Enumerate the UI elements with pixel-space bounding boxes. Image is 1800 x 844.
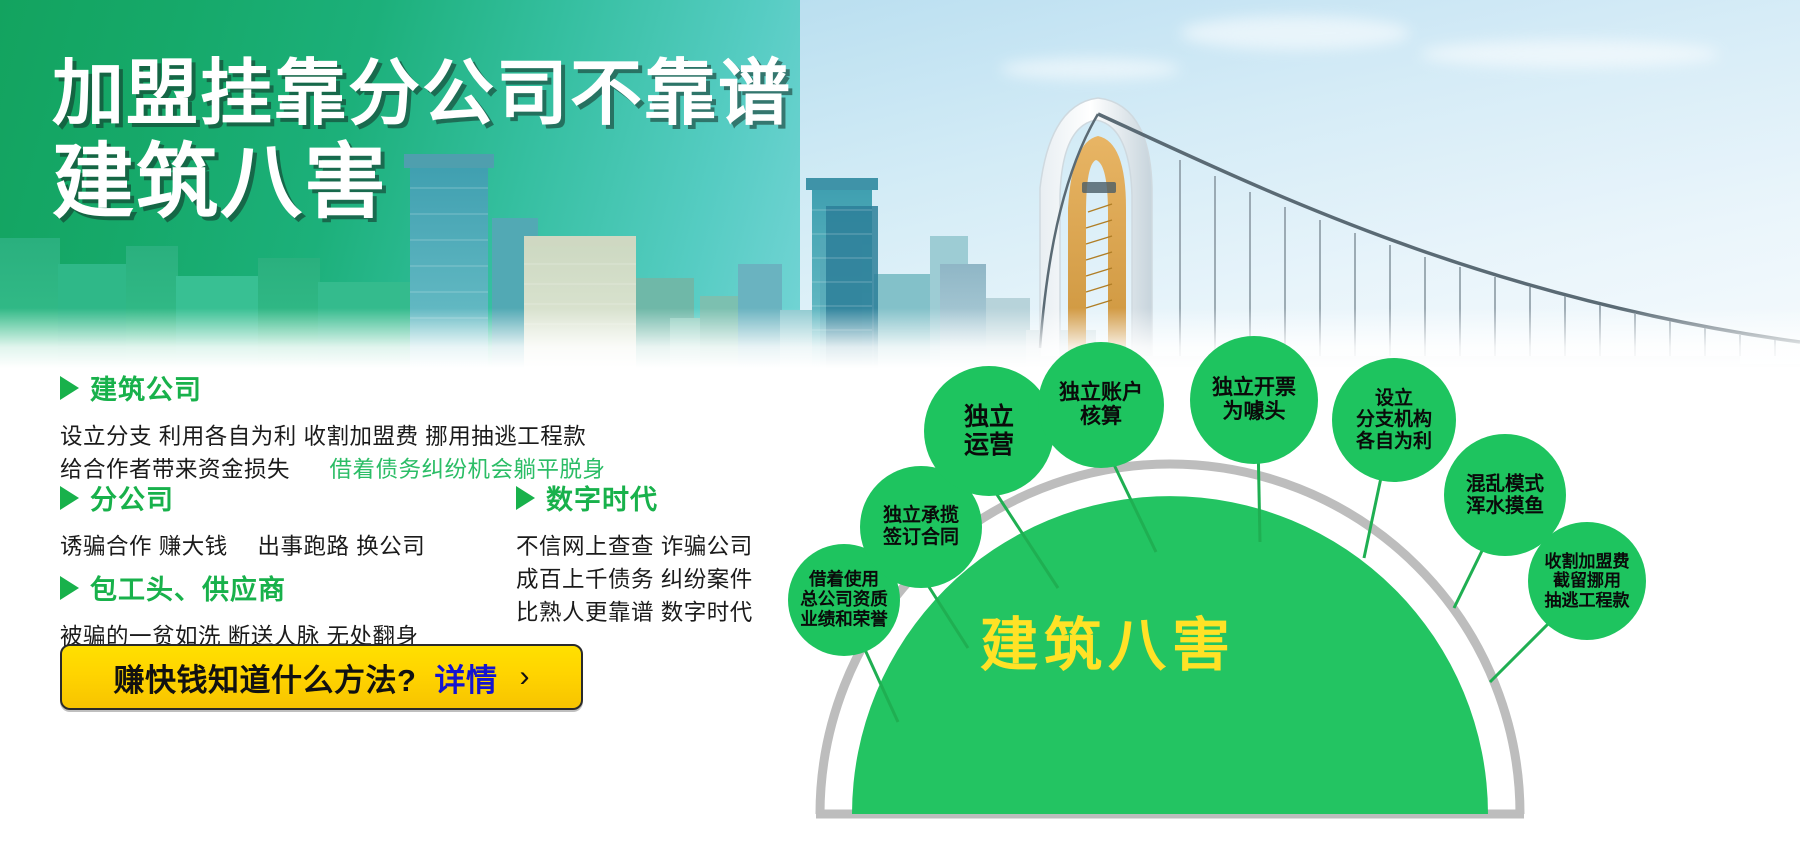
bubble-line: 抽逃工程款 xyxy=(1541,591,1634,610)
cta-button[interactable]: 赚快钱知道什么方法? 详情 › xyxy=(60,644,583,710)
left-content-column: 建筑公司 设立分支 利用各自为利 收割加盟费 挪用抽逃工程款 给合作者带来资金损… xyxy=(0,368,790,844)
bubble-line: 总公司资质 xyxy=(796,590,892,610)
section-body: 不信网上查查 诈骗公司 成百上千债务 纠纷案件 比熟人更靠谱 数字时代 xyxy=(516,530,786,629)
hero-title-group: 加盟挂靠分公司不靠谱 建筑八害 xyxy=(52,56,792,227)
diagram-bubble[interactable]: 独立开票 为噱头 xyxy=(1190,336,1318,464)
section-heading: 建筑公司 xyxy=(60,368,680,407)
bubble-line: 独立承揽 xyxy=(879,505,963,527)
triangle-bullet-icon xyxy=(60,486,79,510)
section-heading: 数字时代 xyxy=(516,478,786,517)
bubble-line: 业绩和荣誉 xyxy=(796,610,892,630)
section-title: 建筑公司 xyxy=(90,368,202,407)
section-body: 诱骗合作 赚大钱 出事跑路 换公司 xyxy=(60,530,480,563)
triangle-bullet-icon xyxy=(60,376,79,400)
radial-diagram: 借着使用 总公司资质 业绩和荣誉 独立承揽 签订合同 独立 运营 独立账户 核算 xyxy=(790,330,1800,844)
hero-title-line1: 加盟挂靠分公司不靠谱 xyxy=(52,56,792,132)
bubble-line: 分支机构 xyxy=(1352,409,1436,431)
section-body: 设立分支 利用各自为利 收割加盟费 挪用抽逃工程款 给合作者带来资金损失 借着债… xyxy=(60,420,680,486)
section-digital-era: 数字时代 不信网上查查 诈骗公司 成百上千债务 纠纷案件 比熟人更靠谱 数字时代 xyxy=(516,478,786,629)
bubble-line: 为噱头 xyxy=(1208,400,1300,424)
section-title: 包工头、供应商 xyxy=(90,568,286,607)
poster-root: 加盟挂靠分公司不靠谱 建筑八害 建筑公司 设立分支 利用各自为利 收割加盟费 挪… xyxy=(0,0,1800,844)
bubble-line: 独立开票 xyxy=(1208,376,1300,400)
cloud-shape xyxy=(1180,16,1410,50)
hero-title-line2: 建筑八害 xyxy=(52,140,792,227)
section-line: 成百上千债务 纠纷案件 xyxy=(516,563,786,596)
section-contractor-supplier: 包工头、供应商 被骗的一贫如洗 断送人脉 无处翻身 xyxy=(60,568,580,653)
bubble-line: 运营 xyxy=(960,431,1018,460)
section-title: 分公司 xyxy=(90,478,174,517)
section-branch-company: 分公司 诱骗合作 赚大钱 出事跑路 换公司 xyxy=(60,478,480,563)
bubble-line: 借着使用 xyxy=(796,570,892,590)
section-heading: 分公司 xyxy=(60,478,480,517)
bubble-line: 签订合同 xyxy=(879,527,963,549)
diagram-bubble[interactable]: 设立 分支机构 各自为利 xyxy=(1332,358,1456,482)
section-line: 设立分支 利用各自为利 收割加盟费 挪用抽逃工程款 xyxy=(60,420,680,453)
chevron-right-icon: › xyxy=(519,660,529,694)
diagram-bubble[interactable]: 收割加盟费 截留挪用 抽逃工程款 xyxy=(1528,522,1646,640)
bubble-line: 设立 xyxy=(1352,388,1436,410)
section-line: 比熟人更靠谱 数字时代 xyxy=(516,596,786,629)
cta-main-label: 赚快钱知道什么方法? xyxy=(114,655,417,700)
bubble-line: 收割加盟费 xyxy=(1541,552,1634,571)
bubble-line: 混乱模式 xyxy=(1462,473,1548,495)
cloud-shape xyxy=(1420,40,1720,68)
cta-details-link[interactable]: 详情 xyxy=(434,655,497,700)
dome-center-label: 建筑八害 xyxy=(980,598,1236,682)
bubble-line: 各自为利 xyxy=(1352,431,1436,453)
section-line: 诱骗合作 赚大钱 出事跑路 换公司 xyxy=(60,530,480,563)
section-title: 数字时代 xyxy=(546,478,658,517)
section-construction-company: 建筑公司 设立分支 利用各自为利 收割加盟费 挪用抽逃工程款 给合作者带来资金损… xyxy=(60,368,680,486)
bubble-line: 截留挪用 xyxy=(1541,571,1634,590)
section-line: 不信网上查查 诈骗公司 xyxy=(516,530,786,563)
triangle-bullet-icon xyxy=(516,486,535,510)
diagram-bubble[interactable]: 独立 运营 xyxy=(924,366,1054,496)
bubble-line: 浑水摸鱼 xyxy=(1462,495,1548,517)
bubble-line: 独立账户 xyxy=(1055,381,1147,405)
diagram-bubble[interactable]: 独立账户 核算 xyxy=(1038,342,1164,468)
hero-banner: 加盟挂靠分公司不靠谱 建筑八害 xyxy=(0,0,1800,368)
triangle-bullet-icon xyxy=(60,576,79,600)
bubble-line: 核算 xyxy=(1055,405,1147,429)
bubble-line: 独立 xyxy=(960,403,1018,432)
section-heading: 包工头、供应商 xyxy=(60,568,580,607)
